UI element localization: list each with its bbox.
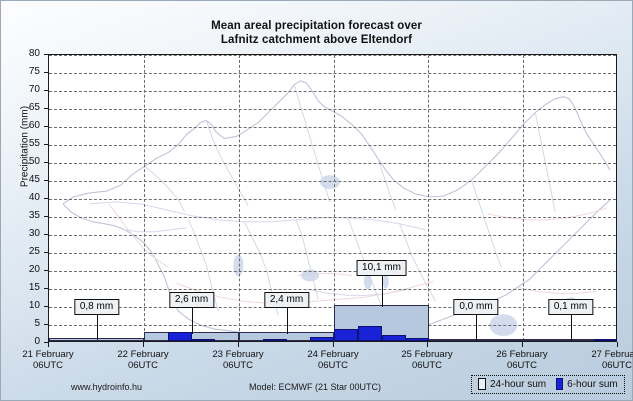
x-axis-tick-label: 27 February06UTC [591,349,633,371]
y-axis-tick-mark [44,180,48,181]
y-axis-tick-mark [44,126,48,127]
site-credit: www.hydroinfo.hu [71,382,142,392]
y-axis-tick-label: 10 [10,301,40,311]
model-info: Model: ECMWF (21 Star 00UTC) [249,382,381,392]
bar-6-hour [594,339,617,341]
chart-window: Mean areal precipitation forecast over L… [0,0,633,401]
y-axis-tick-label: 45 [10,175,40,185]
y-axis-tick-mark [44,54,48,55]
y-axis-tick-label: 70 [10,85,40,95]
y-axis-tick-label: 35 [10,211,40,221]
bar-value-label: 2,4 mm [264,292,309,308]
bar-6-hour [263,339,287,341]
y-axis-tick-mark [44,324,48,325]
x-tick-time: 06UTC [307,360,358,371]
bar-6-hour [168,332,192,341]
chart-title-line1: Mean areal precipitation forecast over [1,19,632,33]
chart-title: Mean areal precipitation forecast over L… [1,19,632,47]
x-axis-tick-mark [617,342,618,347]
y-axis-tick-mark [44,144,48,145]
y-axis-tick-label: 55 [10,139,40,149]
y-axis-tick-label: 20 [10,265,40,275]
y-axis-tick-mark [44,270,48,271]
y-axis-tick-mark [44,216,48,217]
bar-6-hour [358,326,382,341]
value-label-leader-line [382,274,383,307]
x-tick-date: 27 February [591,349,633,360]
bar-6-hour [192,339,215,341]
value-label-leader-line [476,313,477,341]
bar-6-hour [382,335,406,341]
y-axis-tick-label: 65 [10,103,40,113]
x-axis-tick-mark [427,342,428,347]
value-label-leader-line [97,313,98,340]
y-axis-tick-mark [44,90,48,91]
x-axis-tick-mark [333,342,334,347]
x-tick-date: 21 February [22,349,73,360]
bar-value-label: 10,1 mm [356,260,407,276]
x-axis-tick-label: 26 February06UTC [496,349,547,371]
y-axis-tick-label: 40 [10,193,40,203]
plot-area: 0,8 mm2,6 mm2,4 mm10,1 mm0,0 mm0,1 mm [48,54,617,342]
x-tick-date: 25 February [401,349,452,360]
x-axis-tick-label: 22 February06UTC [117,349,168,371]
y-axis-tick-mark [44,198,48,199]
bar-6-hour [406,338,429,341]
y-axis-tick-label: 75 [10,67,40,77]
x-tick-time: 06UTC [591,360,633,371]
y-axis-tick-label: 60 [10,121,40,131]
y-axis-tick-mark [44,306,48,307]
x-tick-time: 06UTC [212,360,263,371]
value-label-leader-line [192,306,193,334]
bar-value-label: 0,1 mm [548,299,593,315]
x-axis-tick-mark [48,342,49,347]
x-tick-time: 06UTC [22,360,73,371]
bar-6-hour [310,337,334,341]
x-tick-time: 06UTC [401,360,452,371]
y-axis-tick-label: 25 [10,247,40,257]
legend-label-24-hour: 24-hour sum [490,379,546,390]
x-tick-date: 24 February [307,349,358,360]
value-label-leader-line [571,313,572,341]
y-axis-tick-mark [44,234,48,235]
x-tick-time: 06UTC [117,360,168,371]
x-axis-tick-label: 23 February06UTC [212,349,263,371]
legend-swatch-6-hour [556,378,563,390]
y-axis-tick-mark [44,252,48,253]
x-axis-tick-label: 25 February06UTC [401,349,452,371]
x-tick-time: 06UTC [496,360,547,371]
x-axis-tick-mark [238,342,239,347]
x-axis-tick-mark [143,342,144,347]
x-tick-date: 23 February [212,349,263,360]
x-tick-date: 22 February [117,349,168,360]
legend-label-6-hour: 6-hour sum [567,379,618,390]
x-axis-tick-label: 24 February06UTC [307,349,358,371]
y-axis-tick-label: 50 [10,157,40,167]
y-axis-tick-mark [44,288,48,289]
x-axis-tick-label: 21 February06UTC [22,349,73,371]
catchment-map-watermark [49,55,616,341]
bar-value-label: 2,6 mm [169,292,214,308]
y-axis-tick-label: 0 [10,337,40,347]
bar-6-hour [334,329,358,341]
y-axis-tick-mark [44,108,48,109]
y-axis-tick-mark [44,72,48,73]
chart-legend: 24-hour sum 6-hour sum [471,375,625,394]
y-axis-tick-label: 80 [10,49,40,59]
bar-value-label: 0,0 mm [453,299,498,315]
legend-swatch-24-hour [478,378,486,390]
y-axis-tick-label: 5 [10,319,40,329]
x-tick-date: 26 February [496,349,547,360]
x-axis-tick-mark [522,342,523,347]
bar-value-label: 0,8 mm [74,299,119,315]
y-axis-tick-mark [44,162,48,163]
value-label-leader-line [287,306,288,334]
chart-title-line2: Lafnitz catchment above Eltendorf [1,33,632,47]
y-axis-tick-label: 30 [10,229,40,239]
y-axis-tick-label: 15 [10,283,40,293]
